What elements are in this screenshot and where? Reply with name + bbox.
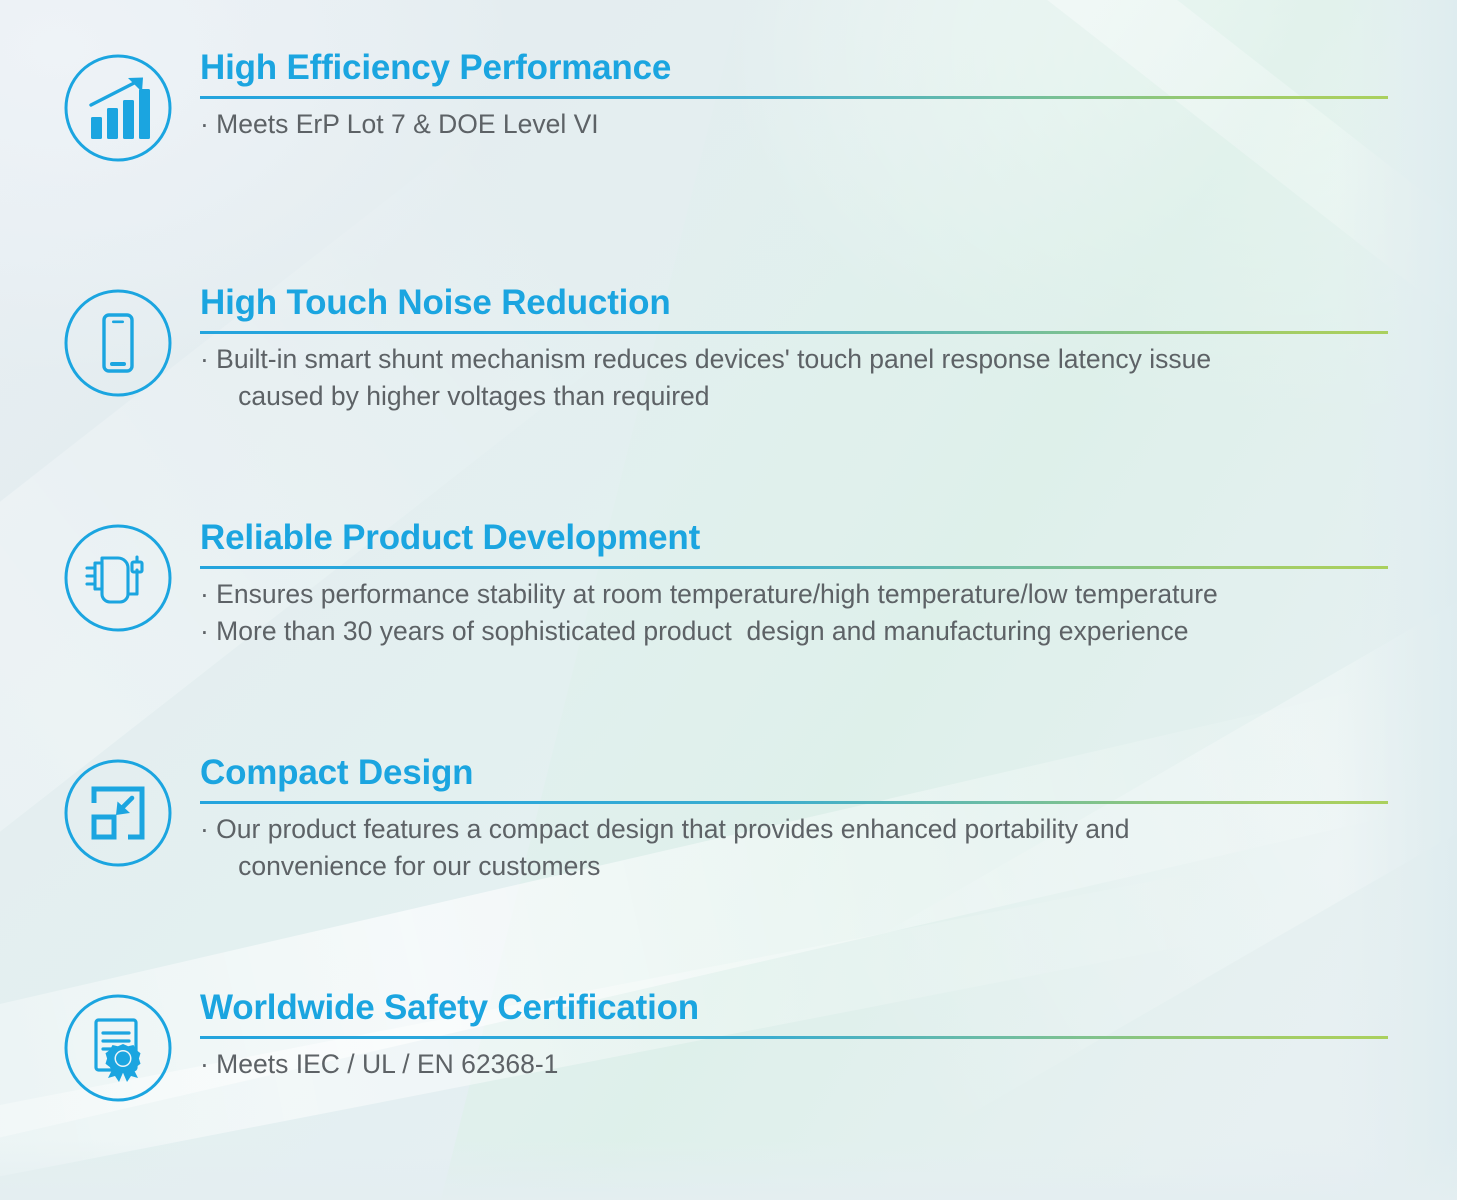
feature-body: Compact Design · Our product features a … (178, 755, 1388, 884)
feature-divider (200, 566, 1388, 569)
feature-item-high-touch-noise-reduction: High Touch Noise Reduction · Built-in sm… (58, 285, 1388, 414)
feature-icon-container (58, 50, 178, 164)
feature-title: High Efficiency Performance (200, 50, 1388, 96)
feature-body: High Efficiency Performance · Meets ErP … (178, 50, 1388, 143)
bullet-item: · Our product features a compact design … (200, 811, 1388, 884)
feature-icon-container (58, 285, 178, 399)
feature-title: Worldwide Safety Certification (200, 990, 1388, 1036)
feature-item-reliable-product-development: Reliable Product Development · Ensures p… (58, 520, 1388, 649)
feature-divider (200, 331, 1388, 334)
bullet-item: · Built-in smart shunt mechanism reduces… (200, 341, 1388, 414)
compact-resize-icon (62, 757, 174, 869)
feature-icon-container (58, 755, 178, 869)
feature-title: High Touch Noise Reduction (200, 285, 1388, 331)
feature-bullets: · Our product features a compact design … (200, 811, 1388, 884)
feature-bullets: · Meets IEC / UL / EN 62368-1 (200, 1046, 1388, 1083)
feature-divider (200, 801, 1388, 804)
bar-chart-growth-icon (62, 52, 174, 164)
feature-divider (200, 1036, 1388, 1039)
bullet-item: · More than 30 years of sophisticated pr… (200, 613, 1388, 650)
power-adapter-icon (62, 522, 174, 634)
feature-body: Reliable Product Development · Ensures p… (178, 520, 1388, 649)
feature-icon-container (58, 520, 178, 634)
feature-bullets: · Built-in smart shunt mechanism reduces… (200, 341, 1388, 414)
feature-divider (200, 96, 1388, 99)
feature-item-compact-design: Compact Design · Our product features a … (58, 755, 1388, 884)
bullet-item: · Meets ErP Lot 7 & DOE Level VI (200, 106, 1388, 143)
feature-body: Worldwide Safety Certification · Meets I… (178, 990, 1388, 1083)
feature-item-worldwide-safety-certification: Worldwide Safety Certification · Meets I… (58, 990, 1388, 1104)
feature-icon-container (58, 990, 178, 1104)
bullet-item: · Meets IEC / UL / EN 62368-1 (200, 1046, 1388, 1083)
feature-body: High Touch Noise Reduction · Built-in sm… (178, 285, 1388, 414)
feature-bullets: · Meets ErP Lot 7 & DOE Level VI (200, 106, 1388, 143)
feature-bullets: · Ensures performance stability at room … (200, 576, 1388, 649)
feature-item-high-efficiency-performance: High Efficiency Performance · Meets ErP … (58, 50, 1388, 164)
feature-list: High Efficiency Performance · Meets ErP … (0, 0, 1457, 1200)
feature-title: Reliable Product Development (200, 520, 1388, 566)
bullet-item: · Ensures performance stability at room … (200, 576, 1388, 613)
feature-title: Compact Design (200, 755, 1388, 801)
certificate-seal-icon (62, 992, 174, 1104)
smartphone-icon (62, 287, 174, 399)
